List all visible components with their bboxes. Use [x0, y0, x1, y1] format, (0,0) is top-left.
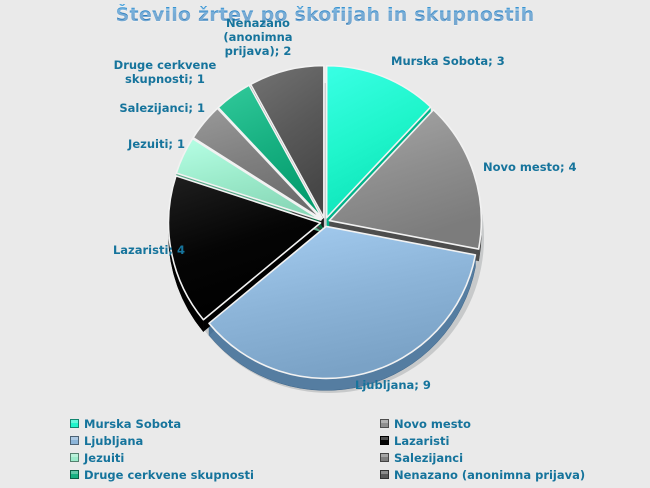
- legend-swatch-icon: [380, 453, 389, 462]
- slice-label-druge-cerkvene-skupnosti: Druge cerkvene skupnosti; 1: [110, 58, 220, 86]
- legend-item[interactable]: Ljubljana: [70, 432, 380, 449]
- chart-canvas: Število žrtev po škofijah in skupnostih …: [0, 0, 650, 488]
- legend-item[interactable]: Jezuiti: [70, 449, 380, 466]
- slice-label-lazaristi: Lazaristi; 4: [45, 243, 185, 257]
- legend-item[interactable]: Nenazano (anonimna prijava): [380, 466, 630, 483]
- slice-label-murska-sobota: Murska Sobota; 3: [391, 54, 571, 68]
- legend-label: Novo mesto: [394, 418, 471, 430]
- legend-swatch-icon: [70, 453, 79, 462]
- legend-label: Druge cerkvene skupnosti: [84, 469, 254, 481]
- legend-swatch-icon: [70, 436, 79, 445]
- legend-swatch-icon: [70, 470, 79, 479]
- legend-label: Ljubljana: [84, 435, 143, 447]
- legend-label: Jezuiti: [84, 452, 124, 464]
- legend-item[interactable]: Lazaristi: [380, 432, 630, 449]
- legend-item[interactable]: Salezijanci: [380, 449, 630, 466]
- slice-label-novo-mesto: Novo mesto; 4: [483, 160, 643, 174]
- chart-legend: Murska SobotaNovo mestoLjubljanaLazarist…: [70, 415, 630, 483]
- legend-swatch-icon: [380, 470, 389, 479]
- legend-item[interactable]: Druge cerkvene skupnosti: [70, 466, 380, 483]
- legend-swatch-icon: [380, 436, 389, 445]
- slice-label-nenazano: Nenazano (anonimna prijava); 2: [198, 16, 318, 58]
- legend-label: Salezijanci: [394, 452, 463, 464]
- legend-label: Nenazano (anonimna prijava): [394, 469, 585, 481]
- slice-label-jezuiti: Jezuiti; 1: [60, 137, 185, 151]
- legend-item[interactable]: Murska Sobota: [70, 415, 380, 432]
- slice-label-salezijanci: Salezijanci; 1: [60, 101, 205, 115]
- legend-label: Murska Sobota: [84, 418, 181, 430]
- legend-swatch-icon: [70, 419, 79, 428]
- legend-swatch-icon: [380, 419, 389, 428]
- legend-label: Lazaristi: [394, 435, 449, 447]
- slice-label-ljubljana: Ljubljana; 9: [355, 378, 525, 392]
- legend-item[interactable]: Novo mesto: [380, 415, 630, 432]
